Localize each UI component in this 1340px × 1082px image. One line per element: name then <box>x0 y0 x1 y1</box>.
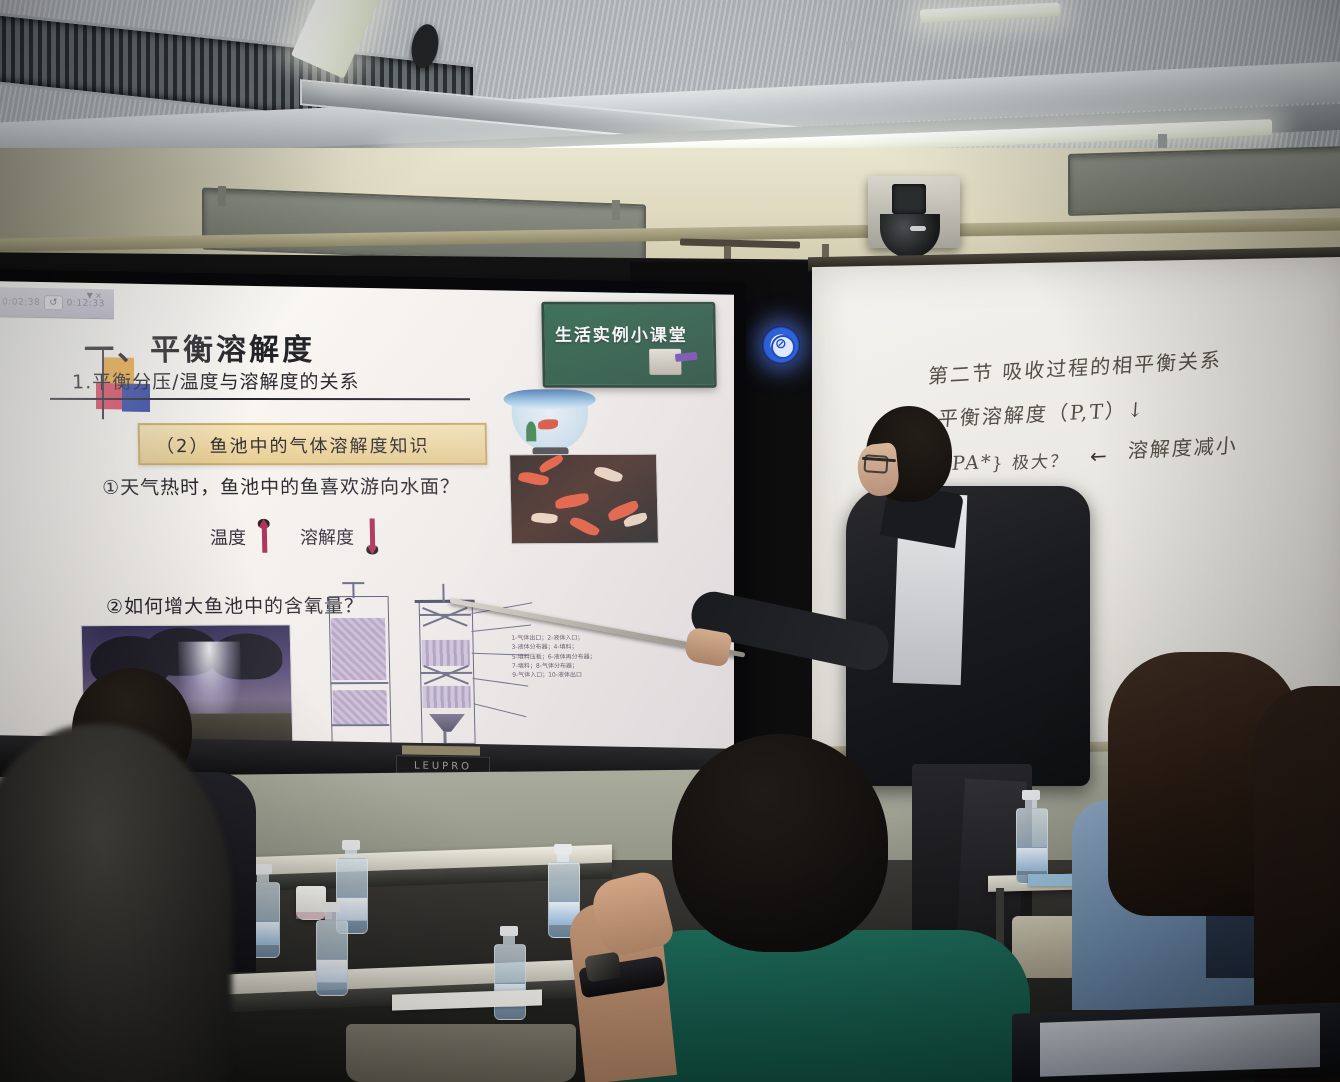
sprinkler-icon <box>846 40 854 48</box>
fishbowl-plant <box>526 421 536 441</box>
highlight-bar-label: （2）鱼池中的气体溶解度知识 <box>156 432 430 458</box>
chalkboard-banner-label: 生活实例小课堂 <box>555 321 688 346</box>
ceiling-camera-icon <box>868 176 960 248</box>
bottle-body <box>494 944 526 1020</box>
undo-arrow-icon[interactable]: ↺ <box>44 295 62 310</box>
koi-fish-pond-photo <box>509 454 659 545</box>
whiteboard-bracket-note: } 极大？ <box>991 446 1071 474</box>
student-foreground-head <box>672 734 888 952</box>
whiteboard-line-3: PA* <box>951 451 993 475</box>
bottle-neck <box>1025 800 1037 808</box>
recording-toolbar[interactable]: 0:02:38 ↺ 0:12:33 ▼ × <box>0 287 114 319</box>
panel-mount <box>218 186 226 206</box>
bottle-label <box>1017 847 1047 871</box>
blue-circle-logo-icon: ⊘ <box>762 326 800 364</box>
logo-glyph: ⊘ <box>775 337 787 351</box>
bottle-cap <box>342 840 360 850</box>
acoustic-panel-right <box>1068 146 1340 216</box>
title-divider <box>50 398 470 400</box>
laptop-foreground[interactable] <box>1012 1002 1340 1082</box>
panel-mount-2 <box>612 200 620 220</box>
fishbowl-fish <box>538 419 558 429</box>
watch-face <box>584 952 622 983</box>
bottle-neck <box>345 850 357 858</box>
bottle-body <box>1016 808 1048 884</box>
bottle-neck <box>257 874 269 882</box>
tower-legend: 1-气体出口；2-液体入口； 3-液体分布器；4-填料； 5-填料压板；6-液体… <box>511 633 620 680</box>
laptop-screen <box>1040 1013 1320 1077</box>
solubility-label: 溶解度 <box>300 524 355 550</box>
camera-lens <box>892 184 926 214</box>
bottle-body <box>316 920 348 996</box>
bottle-cap <box>322 902 340 912</box>
bottle-cap <box>500 926 518 936</box>
microphone-stand-2 <box>822 244 829 257</box>
bottle-neck <box>503 936 515 944</box>
bottle-cap <box>554 844 572 854</box>
screen-brand-tab <box>402 745 480 755</box>
slide-subtitle: 1.平衡分压/温度与溶解度的关系 <box>72 367 360 394</box>
classroom-scene: ⊘ 0:02:38 ↺ 0:12:33 ▼ × 一、平衡溶解度 1.平衡分压/温… <box>0 0 1340 1082</box>
bottle-neck <box>325 912 337 920</box>
bottle-label <box>317 959 347 983</box>
highlight-bar: （2）鱼池中的气体溶解度知识 <box>138 423 488 465</box>
plastic-bag <box>346 1024 576 1082</box>
slide-title: 一、平衡溶解度 <box>84 325 316 369</box>
temperature-solubility-row: 温度 溶解度 <box>210 518 379 554</box>
bottle-cap <box>254 864 272 874</box>
slide-question-1: ①天气热时，鱼池中的鱼喜欢游向水面？ <box>102 472 461 500</box>
up-arrow-icon <box>258 519 271 555</box>
whiteboard-line-5: 溶解度减小 <box>1127 429 1239 464</box>
bottle-cap <box>1022 790 1040 800</box>
fishbowl-rim <box>503 389 595 409</box>
chalkboard-banner: 生活实例小课堂 <box>541 302 716 388</box>
pen-icon <box>675 352 698 362</box>
microphone-stand <box>724 246 731 259</box>
temperature-label: 温度 <box>210 524 247 550</box>
camera-highlight <box>910 226 926 231</box>
whiteboard-arrow-icon: ← <box>1089 444 1107 469</box>
fishbowl-photo <box>503 387 596 455</box>
chevron-down-icon[interactable]: ▼ × <box>87 291 102 300</box>
bottle-neck <box>557 854 569 862</box>
toolbar-elapsed-time: 0:02:38 <box>2 297 40 308</box>
bottle-label <box>337 897 367 921</box>
down-arrow-icon <box>366 518 379 554</box>
